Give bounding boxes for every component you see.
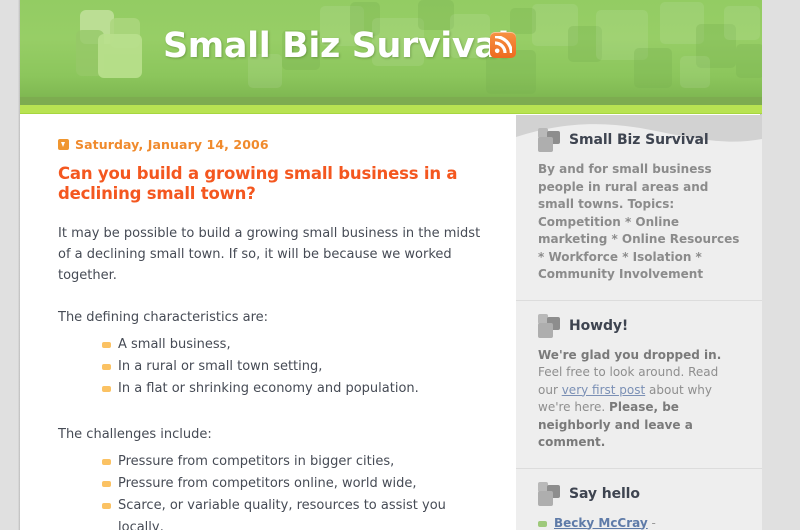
howdy-greeting: We're glad you dropped in.: [538, 348, 721, 362]
sidebar-widget-about: Small Biz Survival By and for small busi…: [516, 115, 762, 300]
sidebar-widget-say-hello: Say hello Becky McCray - Entrepreneur; b…: [516, 468, 762, 530]
list-item: A small business,: [102, 334, 490, 356]
site-header: Small Biz Survival: [20, 0, 762, 97]
person-link-becky-mccray[interactable]: Becky McCray: [554, 516, 648, 530]
characteristics-list: A small business, In a rural or small to…: [58, 334, 490, 400]
calendar-post-icon: [58, 139, 69, 150]
squares-widget-icon: [538, 314, 560, 338]
widget-body: We're glad you dropped in. Feel free to …: [538, 347, 740, 468]
people-list: Becky McCray - Entrepreneur; blog founde…: [538, 515, 740, 530]
widget-header: Say hello: [538, 469, 740, 515]
squares-logo-icon: [58, 8, 158, 90]
widget-title: Small Biz Survival: [569, 132, 709, 148]
squares-widget-icon: [538, 128, 560, 152]
site-title: Small Biz Survival: [163, 22, 509, 70]
challenges-label: The challenges include:: [58, 424, 490, 445]
list-item: In a rural or small town setting,: [102, 356, 490, 378]
widget-header: Small Biz Survival: [538, 115, 740, 161]
list-item: Pressure from competitors online, world …: [102, 473, 490, 495]
widget-header: Howdy!: [538, 301, 740, 347]
challenges-list: Pressure from competitors in bigger citi…: [58, 451, 490, 530]
post-intro-paragraph: It may be possible to build a growing sm…: [58, 223, 490, 286]
list-item: Scarce, or variable quality, resources t…: [102, 495, 490, 530]
rss-feed-icon[interactable]: [490, 32, 516, 58]
list-item: Pressure from competitors in bigger citi…: [102, 451, 490, 473]
post-title[interactable]: Can you build a growing small business i…: [58, 164, 490, 204]
squares-widget-icon: [538, 482, 560, 506]
main-content: Saturday, January 14, 2006 Can you build…: [20, 115, 516, 530]
page-root: Small Biz Survival Saturday, January 14,…: [0, 0, 800, 530]
widget-body: By and for small business people in rura…: [538, 161, 740, 300]
characteristics-label: The defining characteristics are:: [58, 307, 490, 328]
about-description: By and for small business people in rura…: [538, 162, 739, 281]
sidebar-widget-howdy: Howdy! We're glad you dropped in. Feel f…: [516, 300, 762, 468]
header-lime-strip: [20, 105, 762, 114]
list-item: Becky McCray - Entrepreneur; blog founde…: [538, 515, 740, 530]
post-date-text: Saturday, January 14, 2006: [75, 137, 269, 152]
widget-body: Becky McCray - Entrepreneur; blog founde…: [538, 515, 740, 530]
widget-title: Howdy!: [569, 318, 628, 334]
list-item: In a flat or shrinking economy and popul…: [102, 378, 490, 400]
widget-title: Say hello: [569, 486, 640, 502]
sidebar: Small Biz Survival By and for small busi…: [516, 115, 762, 530]
header-dark-strip: [20, 97, 762, 105]
very-first-post-link[interactable]: very first post: [562, 383, 646, 397]
post-date-line: Saturday, January 14, 2006: [58, 137, 490, 152]
